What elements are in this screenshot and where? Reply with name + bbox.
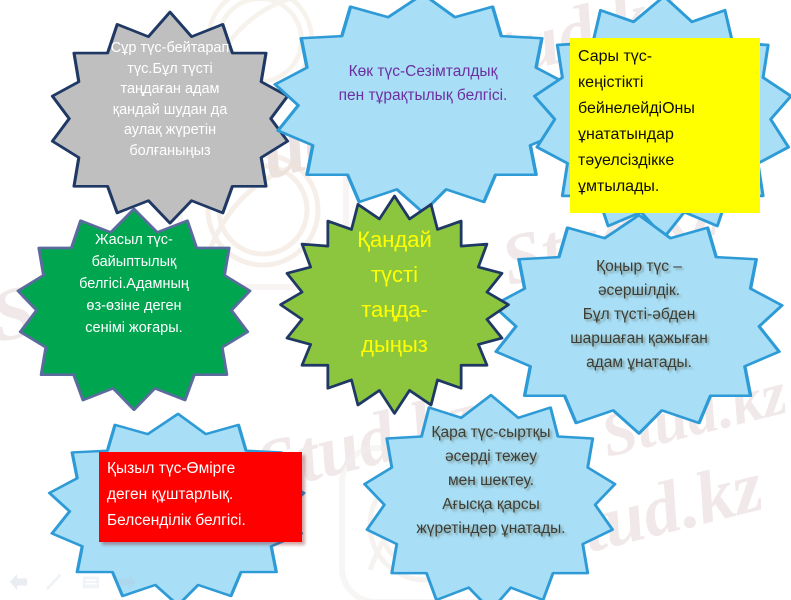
- yellow-callout-text: Сары түс- кеңістікті бейнелейдіОны ұната…: [570, 44, 760, 200]
- red-color-callout[interactable]: Қызыл түс-Өмірге деген құштарлық. Белсен…: [99, 452, 302, 542]
- red-callout-text: Қызыл түс-Өмірге деген құштарлық. Белсен…: [99, 456, 302, 534]
- pen-icon[interactable]: [44, 572, 66, 592]
- star-polygon: [365, 395, 615, 600]
- star-polygon: [493, 215, 782, 433]
- star-polygon: [18, 209, 250, 410]
- brown-color-star[interactable]: Қоңыр түс – әсершілдік. Бұл түсті-әбден …: [496, 213, 782, 423]
- forward-arrow-icon[interactable]: [116, 572, 138, 592]
- blue-color-star[interactable]: Көк түс-Сезімталдық пен тұрақтылық белгі…: [278, 0, 568, 202]
- navigation-toolbar[interactable]: [8, 572, 138, 592]
- star-polygon: [275, 0, 568, 212]
- star-polygon: [52, 12, 287, 223]
- gray-color-star[interactable]: Сұр түс-бейтарап түс.Бұл түсті таңдаған …: [50, 10, 290, 215]
- back-arrow-icon[interactable]: [8, 572, 30, 592]
- yellow-color-callout[interactable]: Сары түс- кеңістікті бейнелейдіОны ұната…: [570, 38, 760, 213]
- green-color-star[interactable]: Жасыл түс- байыптылық белгісі.Адамның өз…: [18, 207, 250, 402]
- slide-canvas: Stud.kz Stud.kz Stud.kz Stud.kz Stud.kz …: [0, 0, 791, 600]
- menu-icon[interactable]: [80, 572, 102, 592]
- black-color-star[interactable]: Қара түс-сыртқы әсерді тежеу мен шектеу.…: [367, 393, 615, 600]
- title-star[interactable]: Қандай түсті таңда- дыңыз: [287, 196, 502, 405]
- title-star-polygon: [281, 196, 509, 413]
